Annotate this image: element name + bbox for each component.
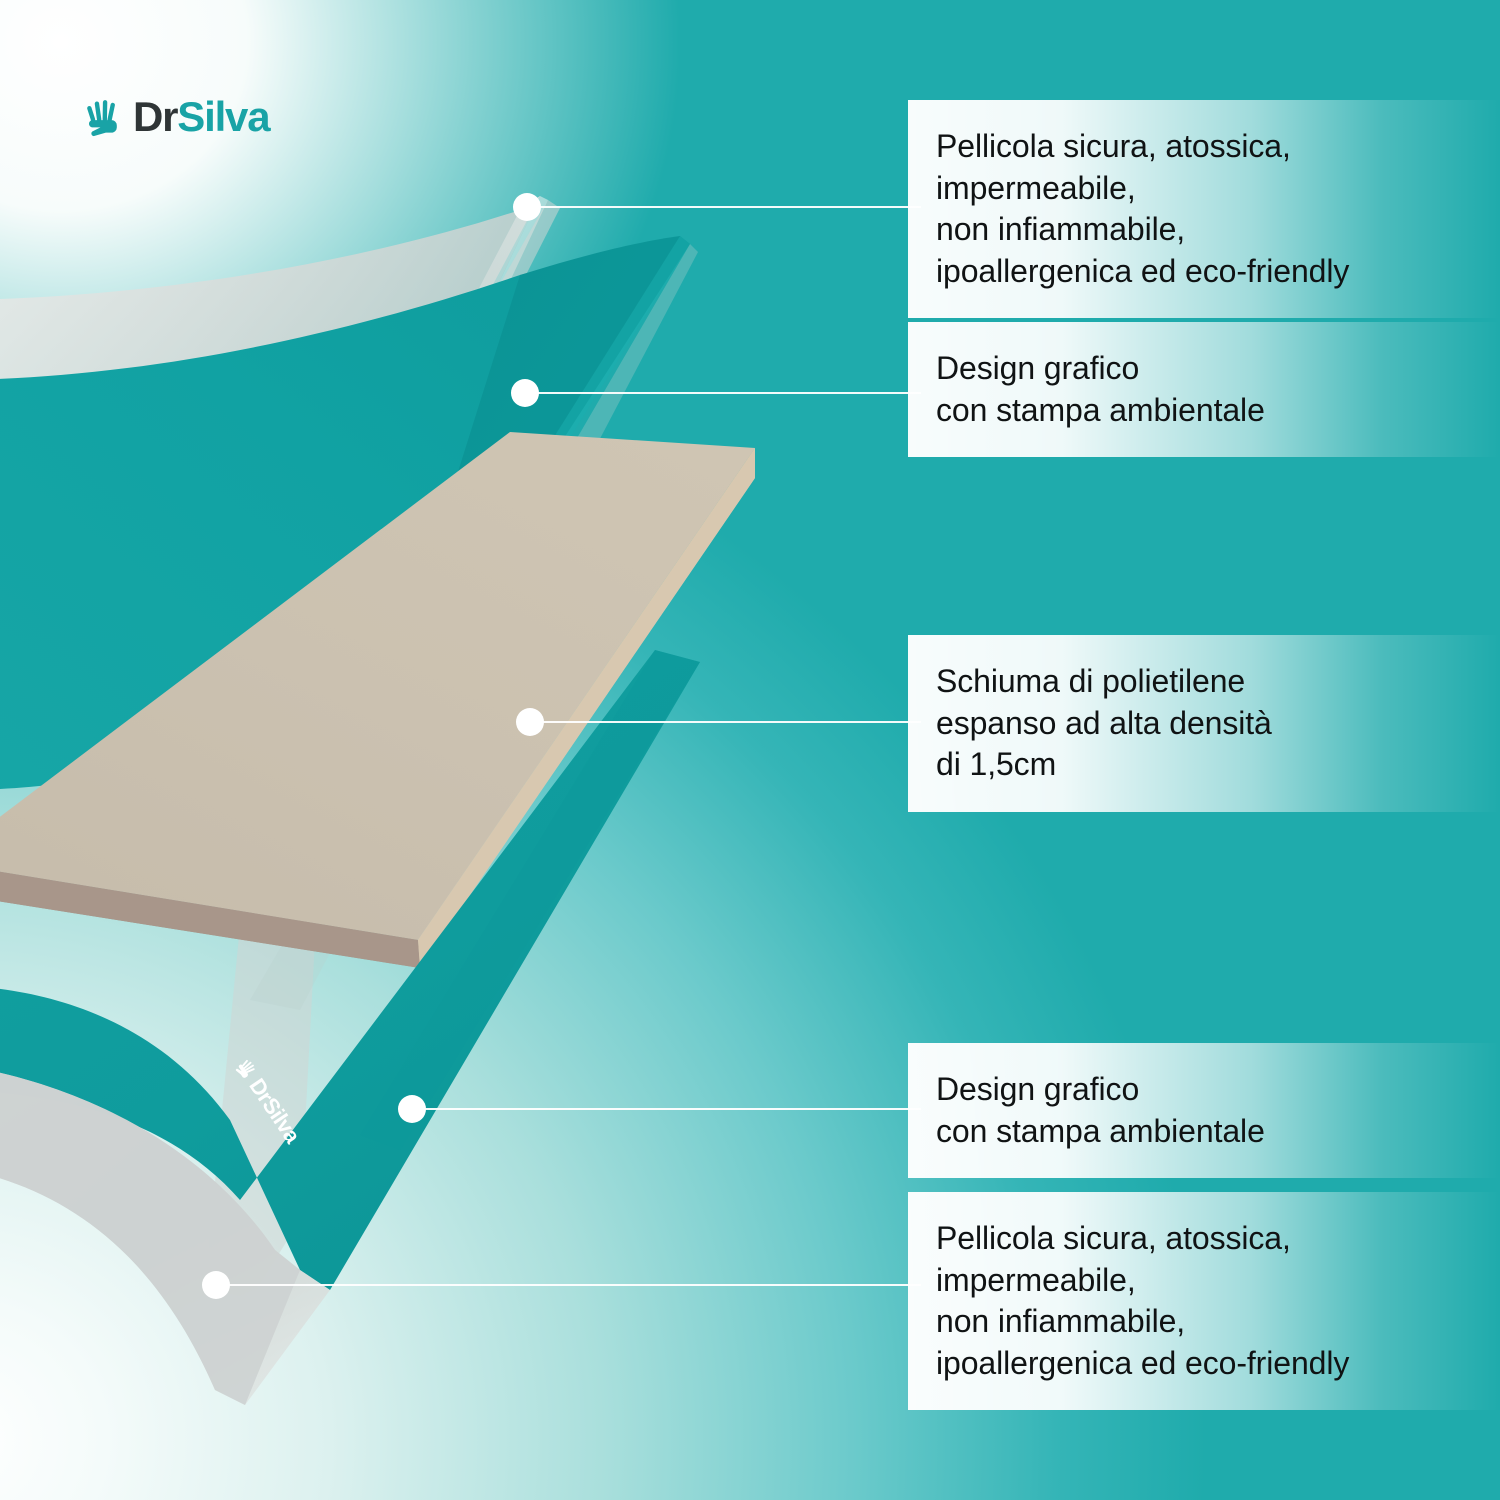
callout-dot-4[interactable] <box>398 1095 426 1123</box>
brand-logo[interactable]: DrSilva <box>84 96 269 138</box>
callout-dot-5[interactable] <box>202 1271 230 1299</box>
callout-line-text: con stampa ambientale <box>936 1111 1500 1153</box>
brand-wordmark: DrSilva <box>133 96 269 138</box>
brand-name-silva: Silva <box>177 93 269 140</box>
callout-design-top: Design grafico con stampa ambientale <box>908 322 1500 457</box>
callout-line-text: di 1,5cm <box>936 744 1500 786</box>
callout-line-text: non infiammabile, <box>936 209 1500 251</box>
callout-line-4 <box>424 1108 921 1110</box>
callout-line-text: espanso ad alta densità <box>936 703 1500 745</box>
callout-line-5 <box>228 1284 921 1286</box>
callout-dot-2[interactable] <box>511 379 539 407</box>
callout-dot-3[interactable] <box>516 708 544 736</box>
callout-line-text: non infiammabile, <box>936 1301 1500 1343</box>
callout-line-text: Design grafico <box>936 1069 1500 1111</box>
callout-line-text: impermeabile, <box>936 1260 1500 1302</box>
callout-line-2 <box>537 392 921 394</box>
callout-line-text: Pellicola sicura, atossica, <box>936 126 1500 168</box>
infographic-canvas: DrSilva Pellicola sicura, atossica, impe… <box>0 0 1500 1500</box>
callout-line-text: Design grafico <box>936 348 1500 390</box>
callout-film-top: Pellicola sicura, atossica, impermeabile… <box>908 100 1500 318</box>
callout-line-text: impermeabile, <box>936 168 1500 210</box>
callout-dot-1[interactable] <box>513 193 541 221</box>
hand-icon <box>84 97 124 137</box>
callout-line-text: Schiuma di polietilene <box>936 661 1500 703</box>
callout-line-text: con stampa ambientale <box>936 390 1500 432</box>
callout-design-bottom: Design grafico con stampa ambientale <box>908 1043 1500 1178</box>
brand-name-dr: Dr <box>133 93 177 140</box>
callout-line-1 <box>539 206 921 208</box>
callout-line-3 <box>542 721 921 723</box>
callout-line-text: ipoallergenica ed eco-friendly <box>936 251 1500 293</box>
callout-line-text: Pellicola sicura, atossica, <box>936 1218 1500 1260</box>
callout-film-bottom: Pellicola sicura, atossica, impermeabile… <box>908 1192 1500 1410</box>
callout-foam: Schiuma di polietilene espanso ad alta d… <box>908 635 1500 812</box>
callout-line-text: ipoallergenica ed eco-friendly <box>936 1343 1500 1385</box>
